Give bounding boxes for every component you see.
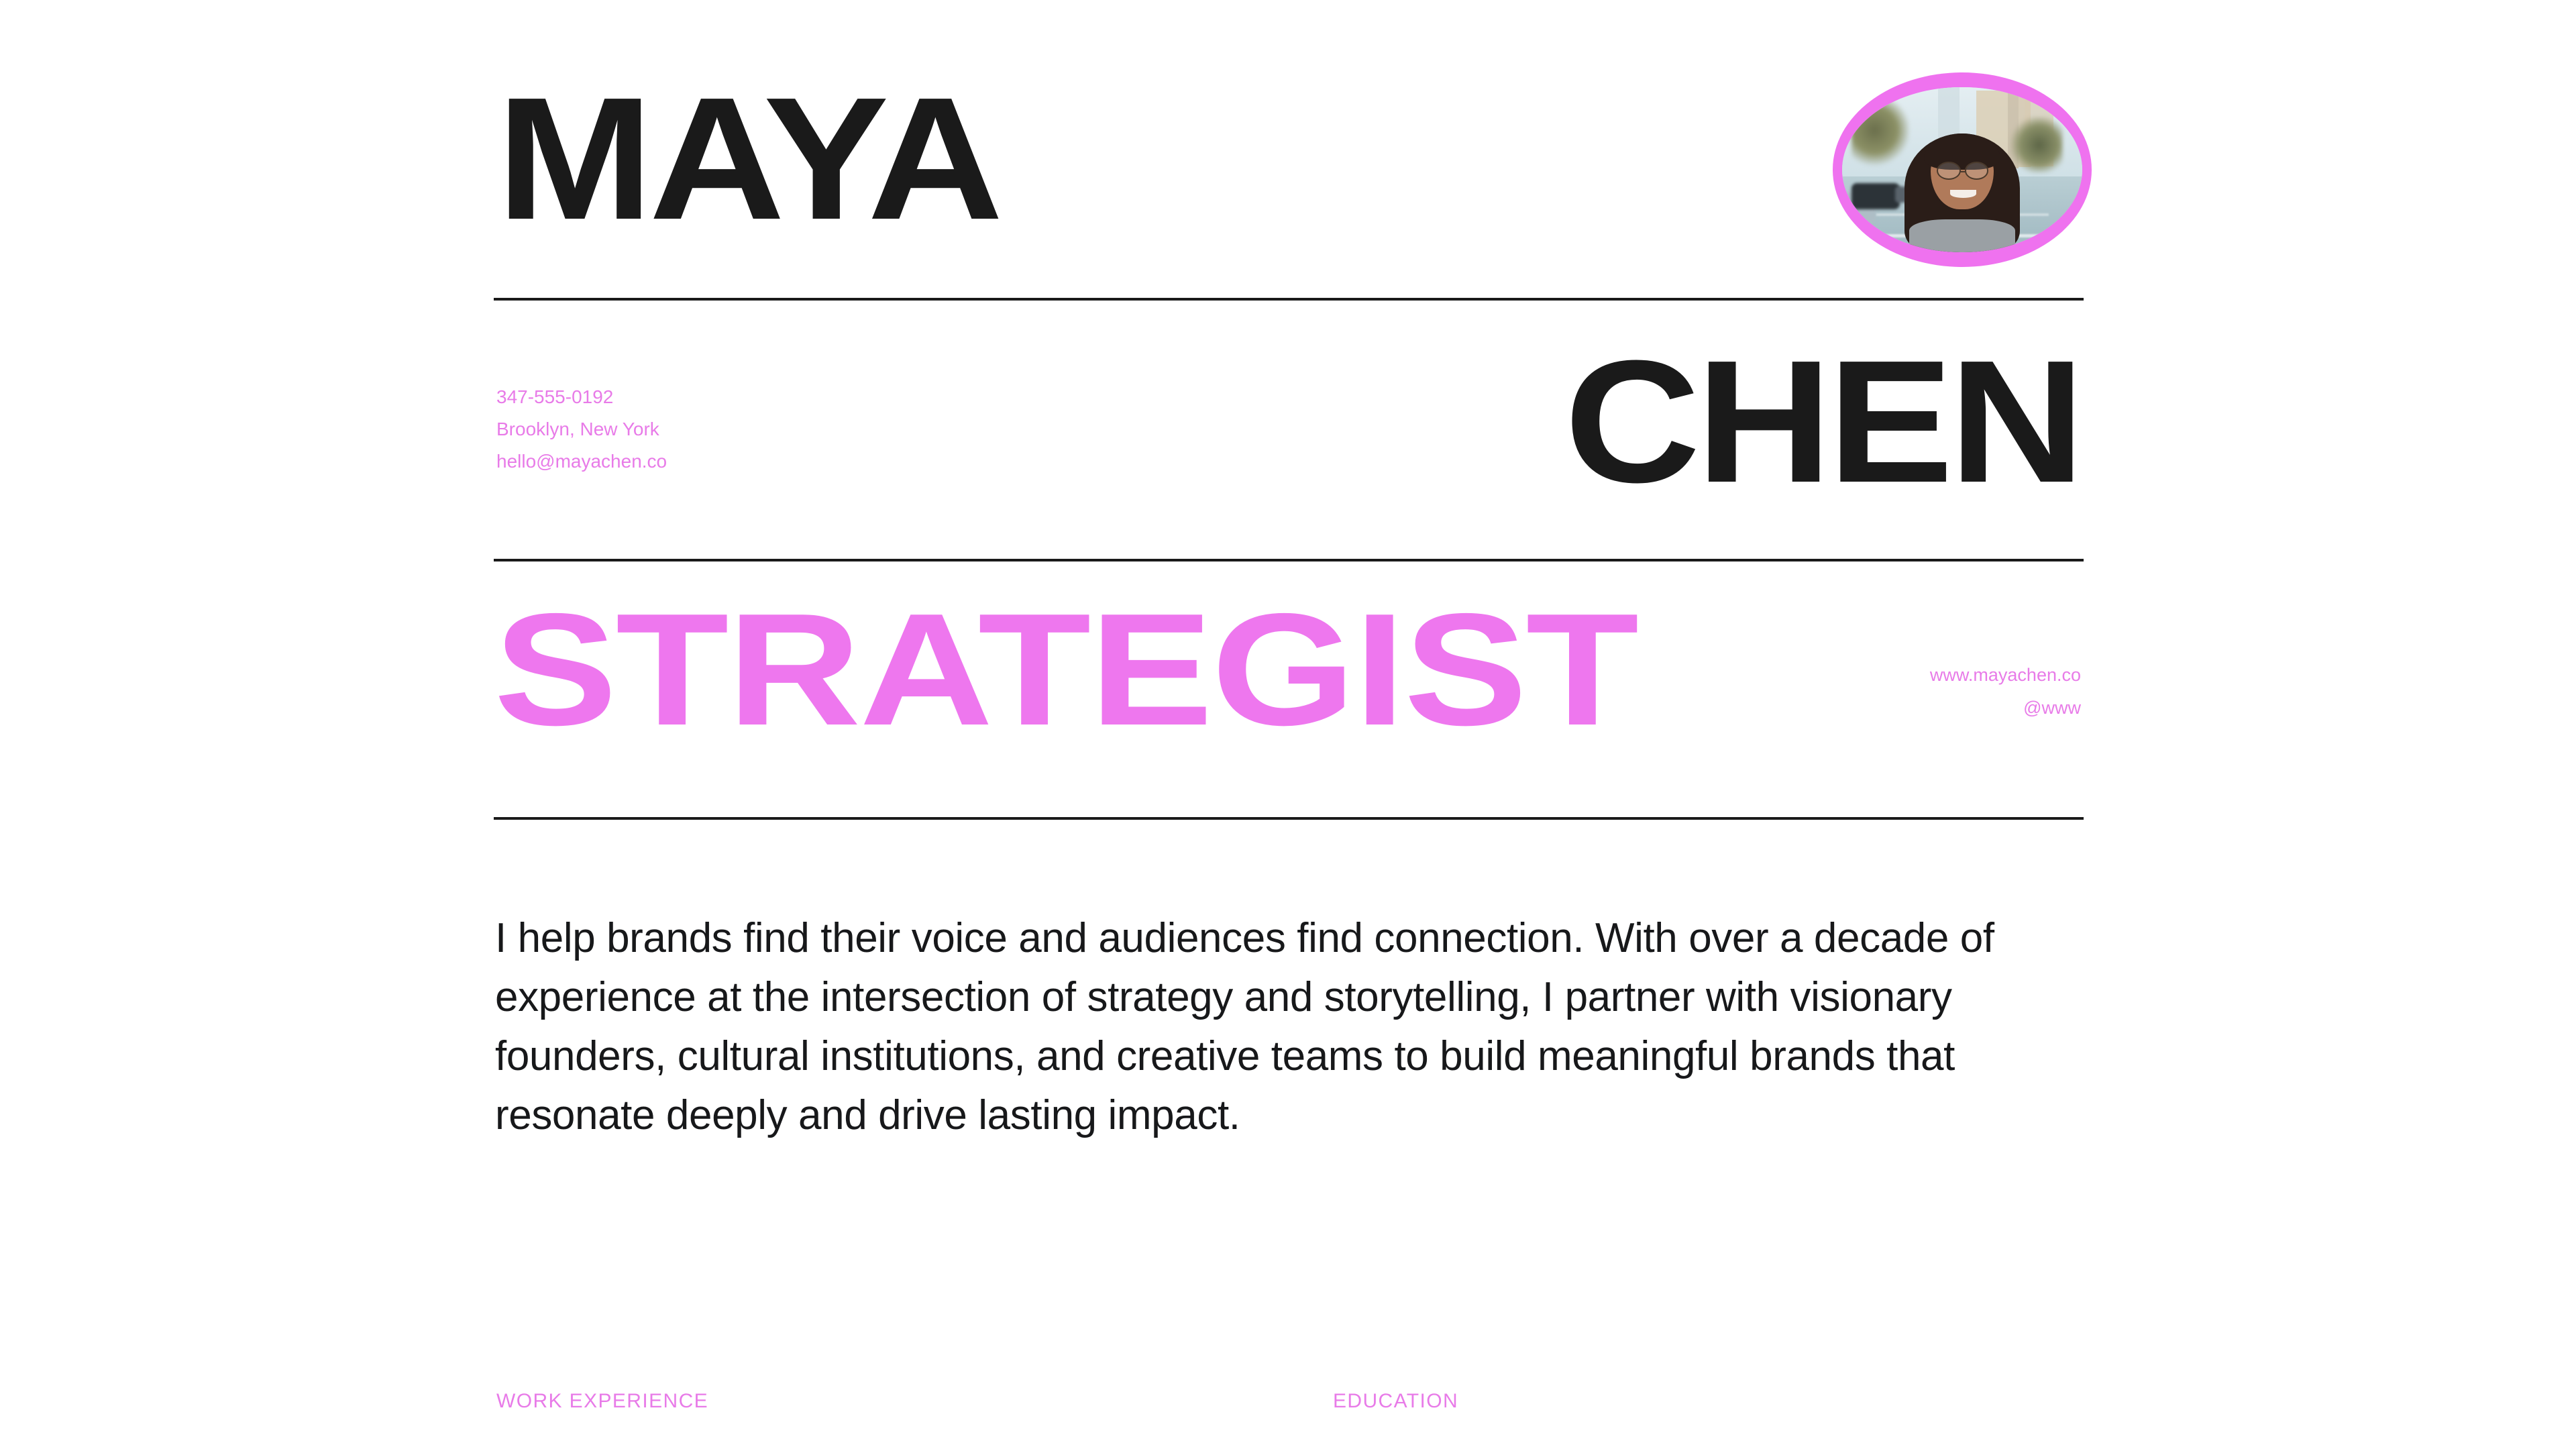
glasses-bridge-icon	[1960, 171, 1966, 172]
summary-paragraph: I help brands find their voice and audie…	[495, 909, 2105, 1145]
contact-phone[interactable]: 347-555-0192	[496, 381, 667, 413]
page-title-first-name: MAYA	[496, 79, 999, 239]
resume-page: MAYA 347-555-0192 Brookl	[0, 0, 2576, 1449]
page-title-last-name: CHEN	[1564, 342, 2081, 502]
avatar-photo	[1842, 87, 2082, 252]
contact-location: Brooklyn, New York	[496, 413, 667, 445]
photo-person-torso	[1909, 219, 2015, 252]
link-handle[interactable]: @www	[1930, 692, 2081, 724]
role-heading: STRATEGIST	[494, 590, 1638, 750]
glasses-lens-right-icon	[1965, 162, 1989, 180]
contact-details: 347-555-0192 Brooklyn, New York hello@ma…	[496, 381, 667, 478]
links-list: www.mayachen.co @www	[1930, 659, 2081, 724]
avatar	[1833, 72, 2092, 267]
photo-car-dark	[1851, 183, 1900, 209]
link-website[interactable]: www.mayachen.co	[1930, 659, 2081, 692]
section-label-work-experience: WORK EXPERIENCE	[496, 1390, 708, 1413]
photo-tree-left	[1851, 101, 1909, 166]
divider-rule-middle	[494, 559, 2084, 561]
photo-tree-right	[2010, 117, 2063, 173]
contact-email[interactable]: hello@mayachen.co	[496, 445, 667, 478]
section-label-education: EDUCATION	[1333, 1390, 1458, 1413]
divider-rule-top	[494, 298, 2084, 301]
glasses-lens-left-icon	[1937, 162, 1961, 180]
divider-rule-bottom	[494, 817, 2084, 820]
photo-person-smile	[1950, 190, 1976, 198]
